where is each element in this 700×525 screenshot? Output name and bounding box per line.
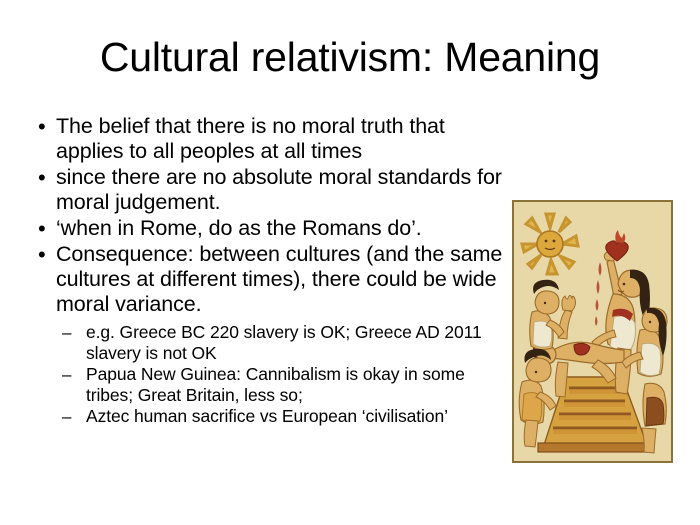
sub-list-item: – Aztec human sacrifice vs European ‘civ… bbox=[30, 406, 508, 427]
bullet-marker-icon: • bbox=[30, 216, 56, 241]
bullet-marker-icon: • bbox=[30, 242, 56, 267]
sub-list-item: – e.g. Greece BC 220 slavery is OK; Gree… bbox=[30, 322, 508, 364]
dash-marker-icon: – bbox=[62, 364, 86, 385]
bullet-text: Consequence: between cultures (and the s… bbox=[56, 242, 508, 317]
bullet-marker-icon: • bbox=[30, 165, 56, 190]
list-item: • The belief that there is no moral trut… bbox=[30, 114, 508, 164]
sub-list-item: – Papua New Guinea: Cannibalism is okay … bbox=[30, 364, 508, 406]
bullet-list: • The belief that there is no moral trut… bbox=[30, 114, 508, 427]
list-item: • since there are no absolute moral stan… bbox=[30, 165, 508, 215]
aztec-sacrifice-image bbox=[512, 200, 673, 463]
dash-marker-icon: – bbox=[62, 322, 86, 343]
dash-marker-icon: – bbox=[62, 406, 86, 427]
sub-bullet-text: Papua New Guinea: Cannibalism is okay in… bbox=[86, 364, 508, 406]
list-item: • Consequence: between cultures (and the… bbox=[30, 242, 508, 317]
bullet-text: The belief that there is no moral truth … bbox=[56, 114, 508, 164]
list-item: • ‘when in Rome, do as the Romans do’. bbox=[30, 216, 508, 241]
bullet-text: ‘when in Rome, do as the Romans do’. bbox=[56, 216, 508, 241]
page-title: Cultural relativism: Meaning bbox=[0, 36, 700, 79]
bullet-marker-icon: • bbox=[30, 114, 56, 139]
bullet-text: since there are no absolute moral standa… bbox=[56, 165, 508, 215]
sub-bullet-text: e.g. Greece BC 220 slavery is OK; Greece… bbox=[86, 322, 508, 364]
sub-bullet-text: Aztec human sacrifice vs European ‘civil… bbox=[86, 406, 508, 427]
codex-illustration bbox=[514, 202, 671, 461]
